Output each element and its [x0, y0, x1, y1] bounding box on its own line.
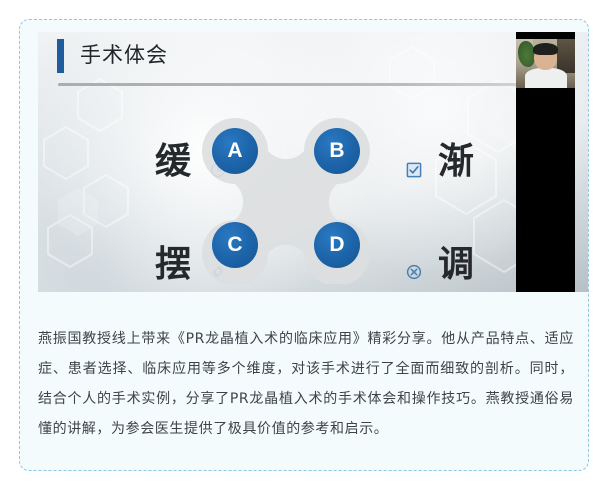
- quatrefoil-diagram: A B C D: [192, 112, 380, 284]
- article-card: 手术体会 缓 摆 渐 调: [19, 19, 589, 471]
- video-background-dark: [557, 39, 575, 73]
- presentation-slide[interactable]: 手术体会 缓 摆 渐 调: [38, 32, 589, 292]
- presenter-shirt: [525, 68, 567, 88]
- presenter-video-thumbnail: [516, 39, 575, 88]
- video-background-plant: [518, 41, 535, 67]
- side-label-bai: 摆: [155, 245, 191, 285]
- diagram-node-d[interactable]: D: [314, 222, 360, 268]
- slide-title-row: 手术体会: [38, 32, 589, 82]
- presenter-video-overlay[interactable]: [516, 32, 575, 292]
- cancel-icon: [406, 264, 422, 280]
- diagram-node-a[interactable]: A: [212, 128, 258, 174]
- side-label-huan: 缓: [155, 142, 191, 182]
- checkbox-icon: [406, 162, 422, 178]
- presenter-hair: [533, 43, 558, 55]
- slide-title: 手术体会: [80, 42, 168, 70]
- title-accent-bar: [57, 39, 64, 73]
- article-caption: 燕振国教授线上带来《PR龙晶植入术的临床应用》精彩分享。他从产品特点、适应症、患…: [38, 324, 574, 444]
- title-underline-rule: [58, 83, 554, 86]
- diagram-node-b[interactable]: B: [314, 128, 360, 174]
- side-label-jian: 渐: [438, 142, 474, 182]
- diagram-node-c[interactable]: C: [212, 222, 258, 268]
- side-label-tiao: 调: [438, 245, 474, 285]
